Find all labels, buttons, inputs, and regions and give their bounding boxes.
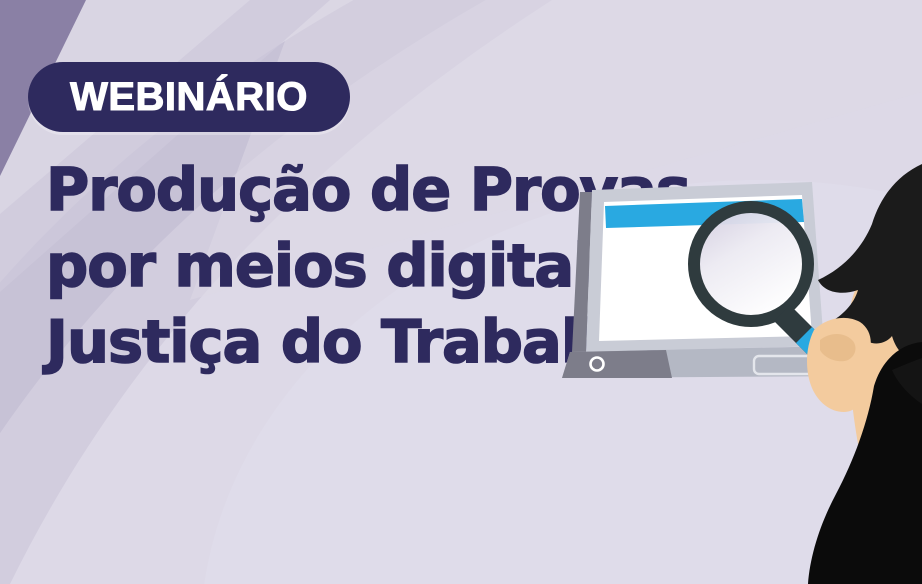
webinar-badge-label: WEBINÁRIO (70, 77, 308, 117)
illustration-person-with-magnifier (562, 164, 922, 584)
laptop-base-shadow (562, 350, 672, 378)
webinar-badge: WEBINÁRIO (28, 62, 350, 132)
illustration-svg (562, 164, 922, 584)
webinar-banner: WEBINÁRIO Produção de Provas por meios d… (0, 0, 922, 584)
